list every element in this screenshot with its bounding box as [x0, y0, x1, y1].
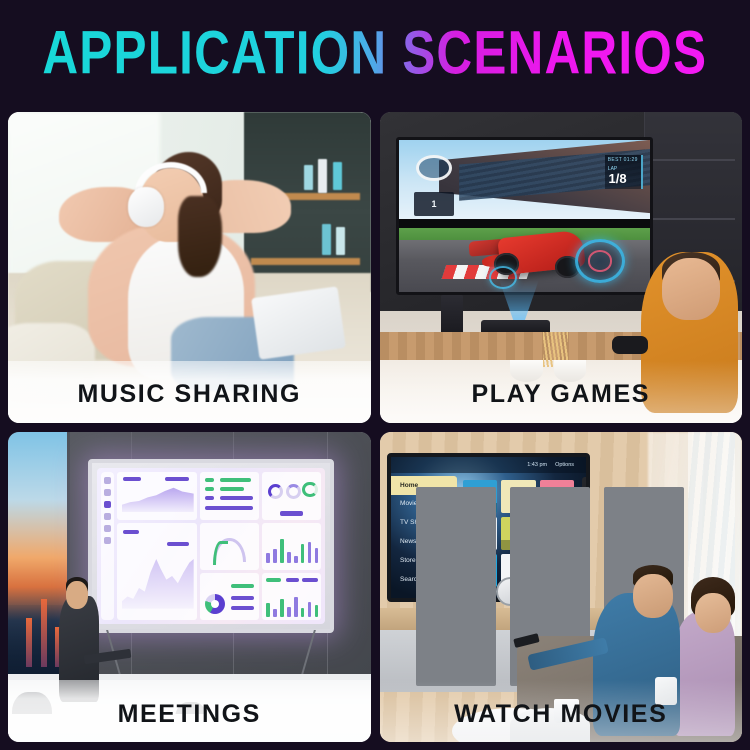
widget-grouped-bar-chart — [262, 573, 321, 620]
widget-donut-chart — [200, 573, 259, 620]
meeting-display — [88, 459, 335, 633]
plus-icon[interactable] — [104, 525, 111, 532]
hud-badge-icon — [416, 155, 451, 181]
watch-movies-caption: WATCH MOVIES — [380, 686, 743, 742]
hud-best-time: BEST 01:29 — [608, 157, 638, 163]
globe-icon[interactable] — [104, 513, 111, 520]
scenario-card-music-sharing[interactable]: MUSIC SHARING — [8, 112, 371, 423]
widget-line-chart — [117, 523, 197, 621]
widget-kpi-rings — [262, 472, 321, 519]
widget-gauge-chart — [200, 523, 259, 570]
meetings-caption: MEETINGS — [8, 686, 371, 742]
page-title: APPLICATION SCENARIOS — [43, 22, 708, 83]
hud-speedometer-icon — [575, 239, 625, 283]
scenario-card-watch-movies[interactable]: 1:43 pm Options Home Movies TV Shows New… — [380, 432, 743, 743]
meetings-label: MEETINGS — [118, 700, 261, 729]
tv-status-time: 1:43 pm — [527, 462, 547, 468]
play-games-caption: PLAY GAMES — [380, 367, 743, 423]
hud-position-value: 1/8 — [609, 171, 627, 186]
scenario-card-meetings[interactable]: MEETINGS — [8, 432, 371, 743]
scenario-card-play-games[interactable]: 1 BEST 01:29 LAP 1/8 — [380, 112, 743, 423]
music-sharing-caption: MUSIC SHARING — [8, 367, 371, 423]
page-header: APPLICATION SCENARIOS — [0, 0, 750, 105]
hud-rank-value: 1 — [414, 192, 454, 216]
scenario-grid: MUSIC SHARING — [8, 112, 742, 742]
music-sharing-label: MUSIC SHARING — [77, 380, 301, 409]
dashboard-sidebar[interactable] — [101, 472, 114, 620]
widget-area-chart — [117, 472, 197, 519]
watch-movies-label: WATCH MOVIES — [454, 700, 667, 729]
widget-bar-chart — [262, 523, 321, 570]
game-controller-icon — [612, 336, 648, 355]
tv-status-bar: 1:43 pm Options — [391, 457, 586, 473]
play-games-label: PLAY GAMES — [471, 380, 650, 409]
projection-screen: 1 BEST 01:29 LAP 1/8 — [396, 137, 653, 295]
analytics-dashboard — [97, 468, 326, 624]
gear-icon[interactable] — [104, 537, 111, 544]
widget-metric-list — [200, 472, 259, 519]
hud-position-panel: BEST 01:29 LAP 1/8 — [605, 155, 643, 189]
grid-icon[interactable] — [104, 477, 111, 484]
chart-icon[interactable] — [104, 489, 111, 496]
layers-icon[interactable] — [104, 501, 111, 508]
hud-rank-sign: 1 — [414, 192, 454, 216]
tv-status-options: Options — [555, 462, 574, 468]
